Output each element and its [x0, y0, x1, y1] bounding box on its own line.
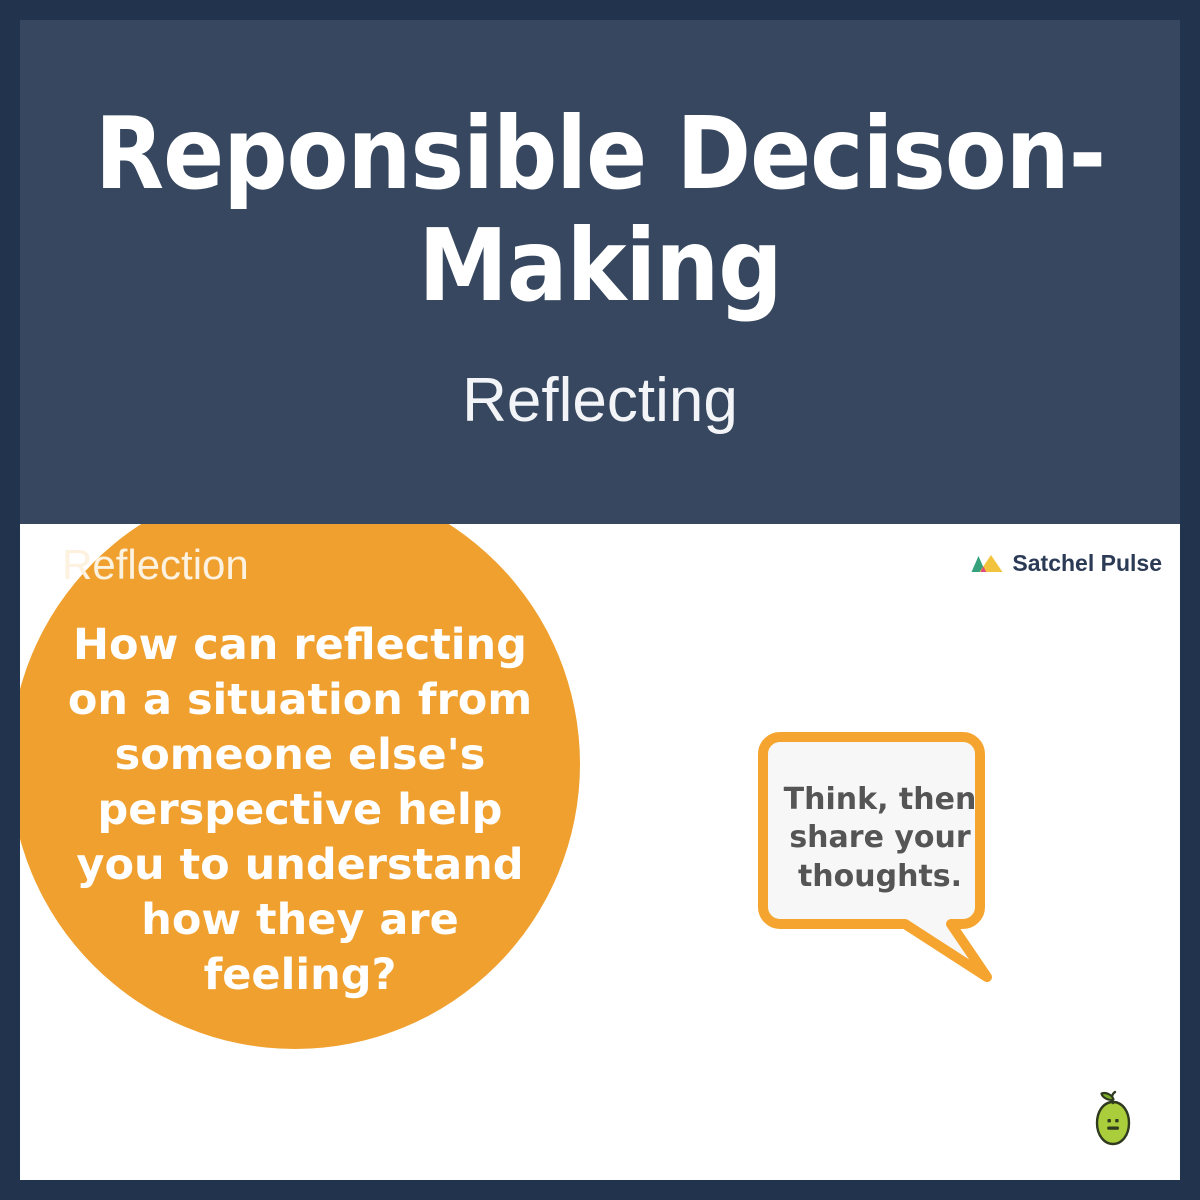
bubble-text: Think, then share your thoughts. — [777, 781, 983, 896]
mountains-logo-icon — [971, 553, 1003, 575]
pear-logo-icon — [1112, 1106, 1158, 1164]
section-label: Reflection — [40, 544, 560, 586]
reflection-block: Reflection How can reflecting on a situa… — [40, 544, 560, 1003]
page-subtitle: Reflecting — [462, 370, 738, 432]
page-title: Reponsible Decison-Making — [90, 98, 1110, 322]
brand-name: Satchel Pulse — [1012, 552, 1162, 575]
reflection-question: How can reflecting on a situation from s… — [40, 618, 560, 1003]
speech-bubble: Think, then share your thoughts. — [755, 729, 1005, 989]
header-panel: Reponsible Decison-Making Reflecting — [20, 20, 1180, 524]
brand-logo: Satchel Pulse — [971, 552, 1162, 575]
slide-canvas: Reponsible Decison-Making Reflecting Ref… — [0, 0, 1200, 1200]
content-panel: Reflection How can reflecting on a situa… — [20, 524, 1180, 1180]
